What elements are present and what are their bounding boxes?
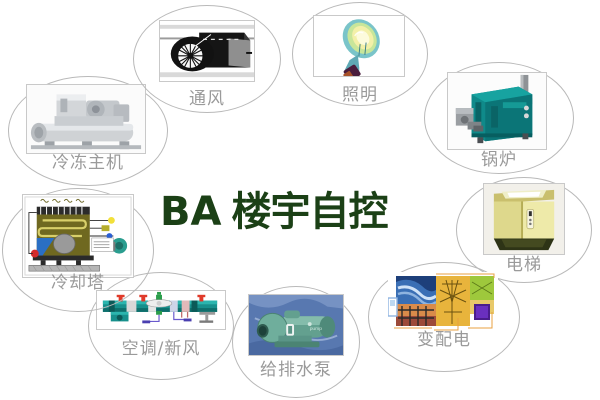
- thumb-boiler: [447, 72, 547, 150]
- ba-building-automation-diagram: 冷冻主机: [0, 0, 600, 400]
- label-lighting: 照明: [292, 80, 428, 105]
- svg-text:pump: pump: [310, 327, 323, 332]
- thumb-ventilation: [159, 20, 255, 82]
- label-power-distribution: 变配电: [368, 325, 520, 350]
- thumb-cooling-tower: [22, 194, 134, 278]
- title-cn: 楼宇自控: [231, 192, 387, 232]
- elevator-cabin-photo: [484, 184, 564, 254]
- label-water-pump: 给排水泵: [232, 355, 360, 380]
- label-boiler: 锅炉: [424, 145, 574, 170]
- light-bulb-photo: [314, 16, 404, 76]
- cooling-tower-diagram: [23, 195, 133, 277]
- label-chiller: 冷冻主机: [8, 148, 168, 173]
- label-cooling-tower: 冷却塔: [2, 268, 154, 293]
- thumb-lighting: [313, 15, 405, 77]
- thumb-elevator: [483, 183, 565, 255]
- thumb-chiller: [26, 84, 146, 154]
- label-hvac: 空调/新风: [88, 334, 234, 359]
- title-en: BA: [160, 192, 221, 232]
- page-title: BA 楼宇自控: [160, 186, 450, 238]
- chiller-unit-photo: [27, 85, 145, 153]
- label-ventilation: 通风: [133, 84, 281, 109]
- boiler-unit-photo: [448, 73, 546, 149]
- water-pump-photo: pump: [249, 295, 343, 355]
- thumb-water-pump: pump: [248, 294, 344, 356]
- air-handling-fan-photo: [160, 21, 254, 81]
